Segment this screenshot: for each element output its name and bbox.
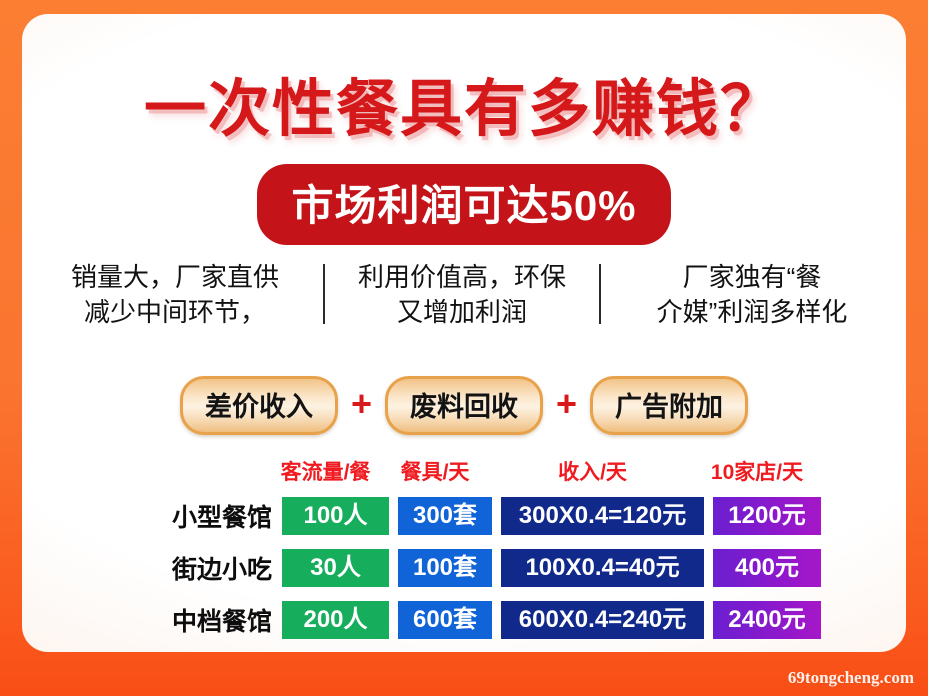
plus-icon-1: + (351, 386, 372, 426)
table-header-sets: 餐具/天 (388, 456, 482, 486)
cell-value-sets-2: 100套 (398, 549, 492, 587)
cell-income-2: 100X0.4=40元 (501, 549, 704, 587)
cell-value-sets-1: 300套 (398, 497, 492, 535)
profit-formula: 差价收入 + 废料回收 + 广告附加 (22, 376, 906, 435)
benefit-column-1: 销量大，厂家直供 减少中间环节， (27, 260, 323, 330)
cell-value-traffic-1: 100人 (282, 497, 389, 535)
table-header-income: 收入/天 (491, 456, 694, 486)
poster-frame: 一次性餐具有多赚钱？ 市场利润可达50% 销量大，厂家直供 减少中间环节， 利用… (0, 0, 928, 696)
cell-value-traffic-3: 200人 (282, 601, 389, 639)
cell-traffic-3: 200人 (282, 601, 389, 639)
cell-value-income-1: 300X0.4=120元 (501, 497, 704, 535)
benefit-1-line-2: 减少中间环节， (39, 295, 311, 330)
cell-value-income-2: 100X0.4=40元 (501, 549, 704, 587)
formula-pill-price-margin: 差价收入 (180, 376, 338, 435)
cell-income-1: 300X0.4=120元 (501, 497, 704, 535)
benefit-column-3: 厂家独有“餐 介媒”利润多样化 (601, 260, 903, 330)
benefit-3-line-1: 厂家独有“餐 (613, 260, 891, 295)
benefit-column-2: 利用价值高，环保 又增加利润 (325, 260, 599, 330)
cell-ten-stores-2: 400元 (713, 549, 821, 587)
cell-value-income-3: 600X0.4=240元 (501, 601, 704, 639)
row-label-street-snack: 街边小吃 (148, 550, 282, 586)
formula-pill-ad-revenue: 广告附加 (590, 376, 748, 435)
table-row: 小型餐馆 100人 300套 300X0.4=120元 1200元 (148, 494, 820, 538)
cell-value-ten-stores-3: 2400元 (713, 601, 821, 639)
benefit-2-line-1: 利用价值高，环保 (337, 260, 587, 295)
subtitle-badge: 市场利润可达50% (257, 164, 670, 245)
page-title: 一次性餐具有多赚钱？ (22, 58, 906, 148)
cell-sets-3: 600套 (398, 601, 492, 639)
poster-card: 一次性餐具有多赚钱？ 市场利润可达50% 销量大，厂家直供 减少中间环节， 利用… (22, 14, 906, 652)
plus-icon-2: + (556, 386, 577, 426)
cell-income-3: 600X0.4=240元 (501, 601, 704, 639)
table-header-traffic: 客流量/餐 (272, 456, 379, 486)
row-label-midrange-restaurant: 中档餐馆 (148, 602, 282, 638)
table-header-ten-stores: 10家店/天 (703, 456, 811, 486)
table-header-row: 客流量/餐 餐具/天 收入/天 10家店/天 (148, 454, 820, 488)
cell-sets-2: 100套 (398, 549, 492, 587)
table-row: 街边小吃 30人 100套 100X0.4=40元 400元 (148, 546, 820, 590)
cell-ten-stores-3: 2400元 (713, 601, 821, 639)
cell-traffic-1: 100人 (282, 497, 389, 535)
cell-value-traffic-2: 30人 (282, 549, 389, 587)
table-row: 中档餐馆 200人 600套 600X0.4=240元 2400元 (148, 598, 820, 642)
site-watermark: 69tongcheng.com (788, 668, 914, 688)
cell-sets-1: 300套 (398, 497, 492, 535)
cell-value-ten-stores-1: 1200元 (713, 497, 821, 535)
cell-ten-stores-1: 1200元 (713, 497, 821, 535)
profit-table: 客流量/餐 餐具/天 收入/天 10家店/天 小型餐馆 100人 300套 30… (148, 454, 820, 650)
cell-value-ten-stores-2: 400元 (713, 549, 821, 587)
formula-pill-waste-recycling: 废料回收 (385, 376, 543, 435)
subtitle-badge-container: 市场利润可达50% (22, 164, 906, 245)
benefit-1-line-1: 销量大，厂家直供 (39, 260, 311, 295)
benefits-row: 销量大，厂家直供 减少中间环节， 利用价值高，环保 又增加利润 厂家独有“餐 介… (56, 260, 874, 330)
cell-value-sets-3: 600套 (398, 601, 492, 639)
cell-traffic-2: 30人 (282, 549, 389, 587)
benefit-2-line-2: 又增加利润 (337, 295, 587, 330)
benefit-3-line-2: 介媒”利润多样化 (613, 295, 891, 330)
row-label-small-restaurant: 小型餐馆 (148, 498, 282, 534)
